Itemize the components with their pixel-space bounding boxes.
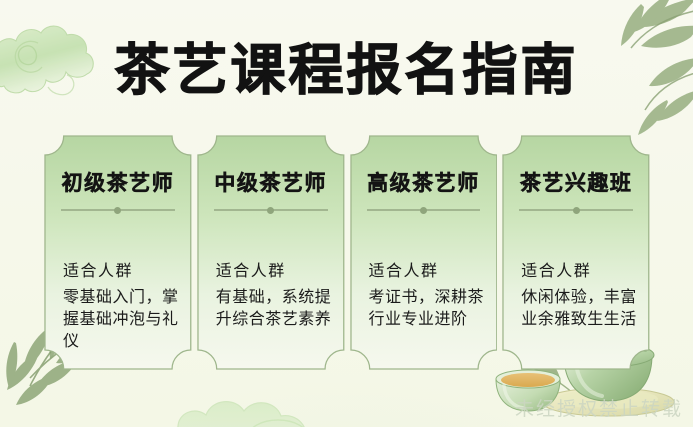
watermark-text: 未经授权禁止转载 [515,394,683,421]
card-kicker: 适合人群 [521,261,637,282]
card-title: 茶艺兴趣班 [515,170,637,196]
card-title: 高级茶艺师 [363,170,485,196]
course-card[interactable]: 茶艺兴趣班 适合人群 休闲体验，丰富业余雅致生生活 [502,135,650,370]
card-body: 适合人群 零基础入门，掌握基础冲泡与礼仪 [57,261,179,353]
card-description: 有基础，系统提升综合茶艺素养 [216,287,332,331]
divider-dot-icon [573,207,580,214]
card-kicker: 适合人群 [369,261,485,282]
card-divider [519,206,633,213]
course-card[interactable]: 高级茶艺师 适合人群 考证书，深耕茶行业专业进阶 [350,135,498,370]
card-kicker: 适合人群 [216,261,332,282]
card-body: 适合人群 有基础，系统提升综合茶艺素养 [210,261,332,331]
card-divider [61,206,175,213]
course-card-list: 初级茶艺师 适合人群 零基础入门，掌握基础冲泡与礼仪 [44,135,650,370]
divider-dot-icon [267,207,274,214]
card-description: 零基础入门，掌握基础冲泡与礼仪 [63,287,179,353]
card-description: 考证书，深耕茶行业专业进阶 [369,287,485,331]
page-title: 茶艺课程报名指南 [0,40,693,102]
card-divider [214,206,328,213]
card-title: 初级茶艺师 [57,170,179,196]
divider-dot-icon [114,207,121,214]
card-kicker: 适合人群 [63,261,179,282]
cloud-bottom-center-icon [160,363,390,427]
card-body: 适合人群 考证书，深耕茶行业专业进阶 [363,261,485,331]
card-description: 休闲体验，丰富业余雅致生生活 [521,287,637,331]
poster-stage: 茶艺课程报名指南 初级茶艺师 [0,0,693,427]
card-title: 中级茶艺师 [210,170,332,196]
divider-dot-icon [420,207,427,214]
course-card[interactable]: 初级茶艺师 适合人群 零基础入门，掌握基础冲泡与礼仪 [44,135,192,370]
course-card[interactable]: 中级茶艺师 适合人群 有基础，系统提升综合茶艺素养 [197,135,345,370]
card-divider [367,206,481,213]
card-body: 适合人群 休闲体验，丰富业余雅致生生活 [515,261,637,331]
